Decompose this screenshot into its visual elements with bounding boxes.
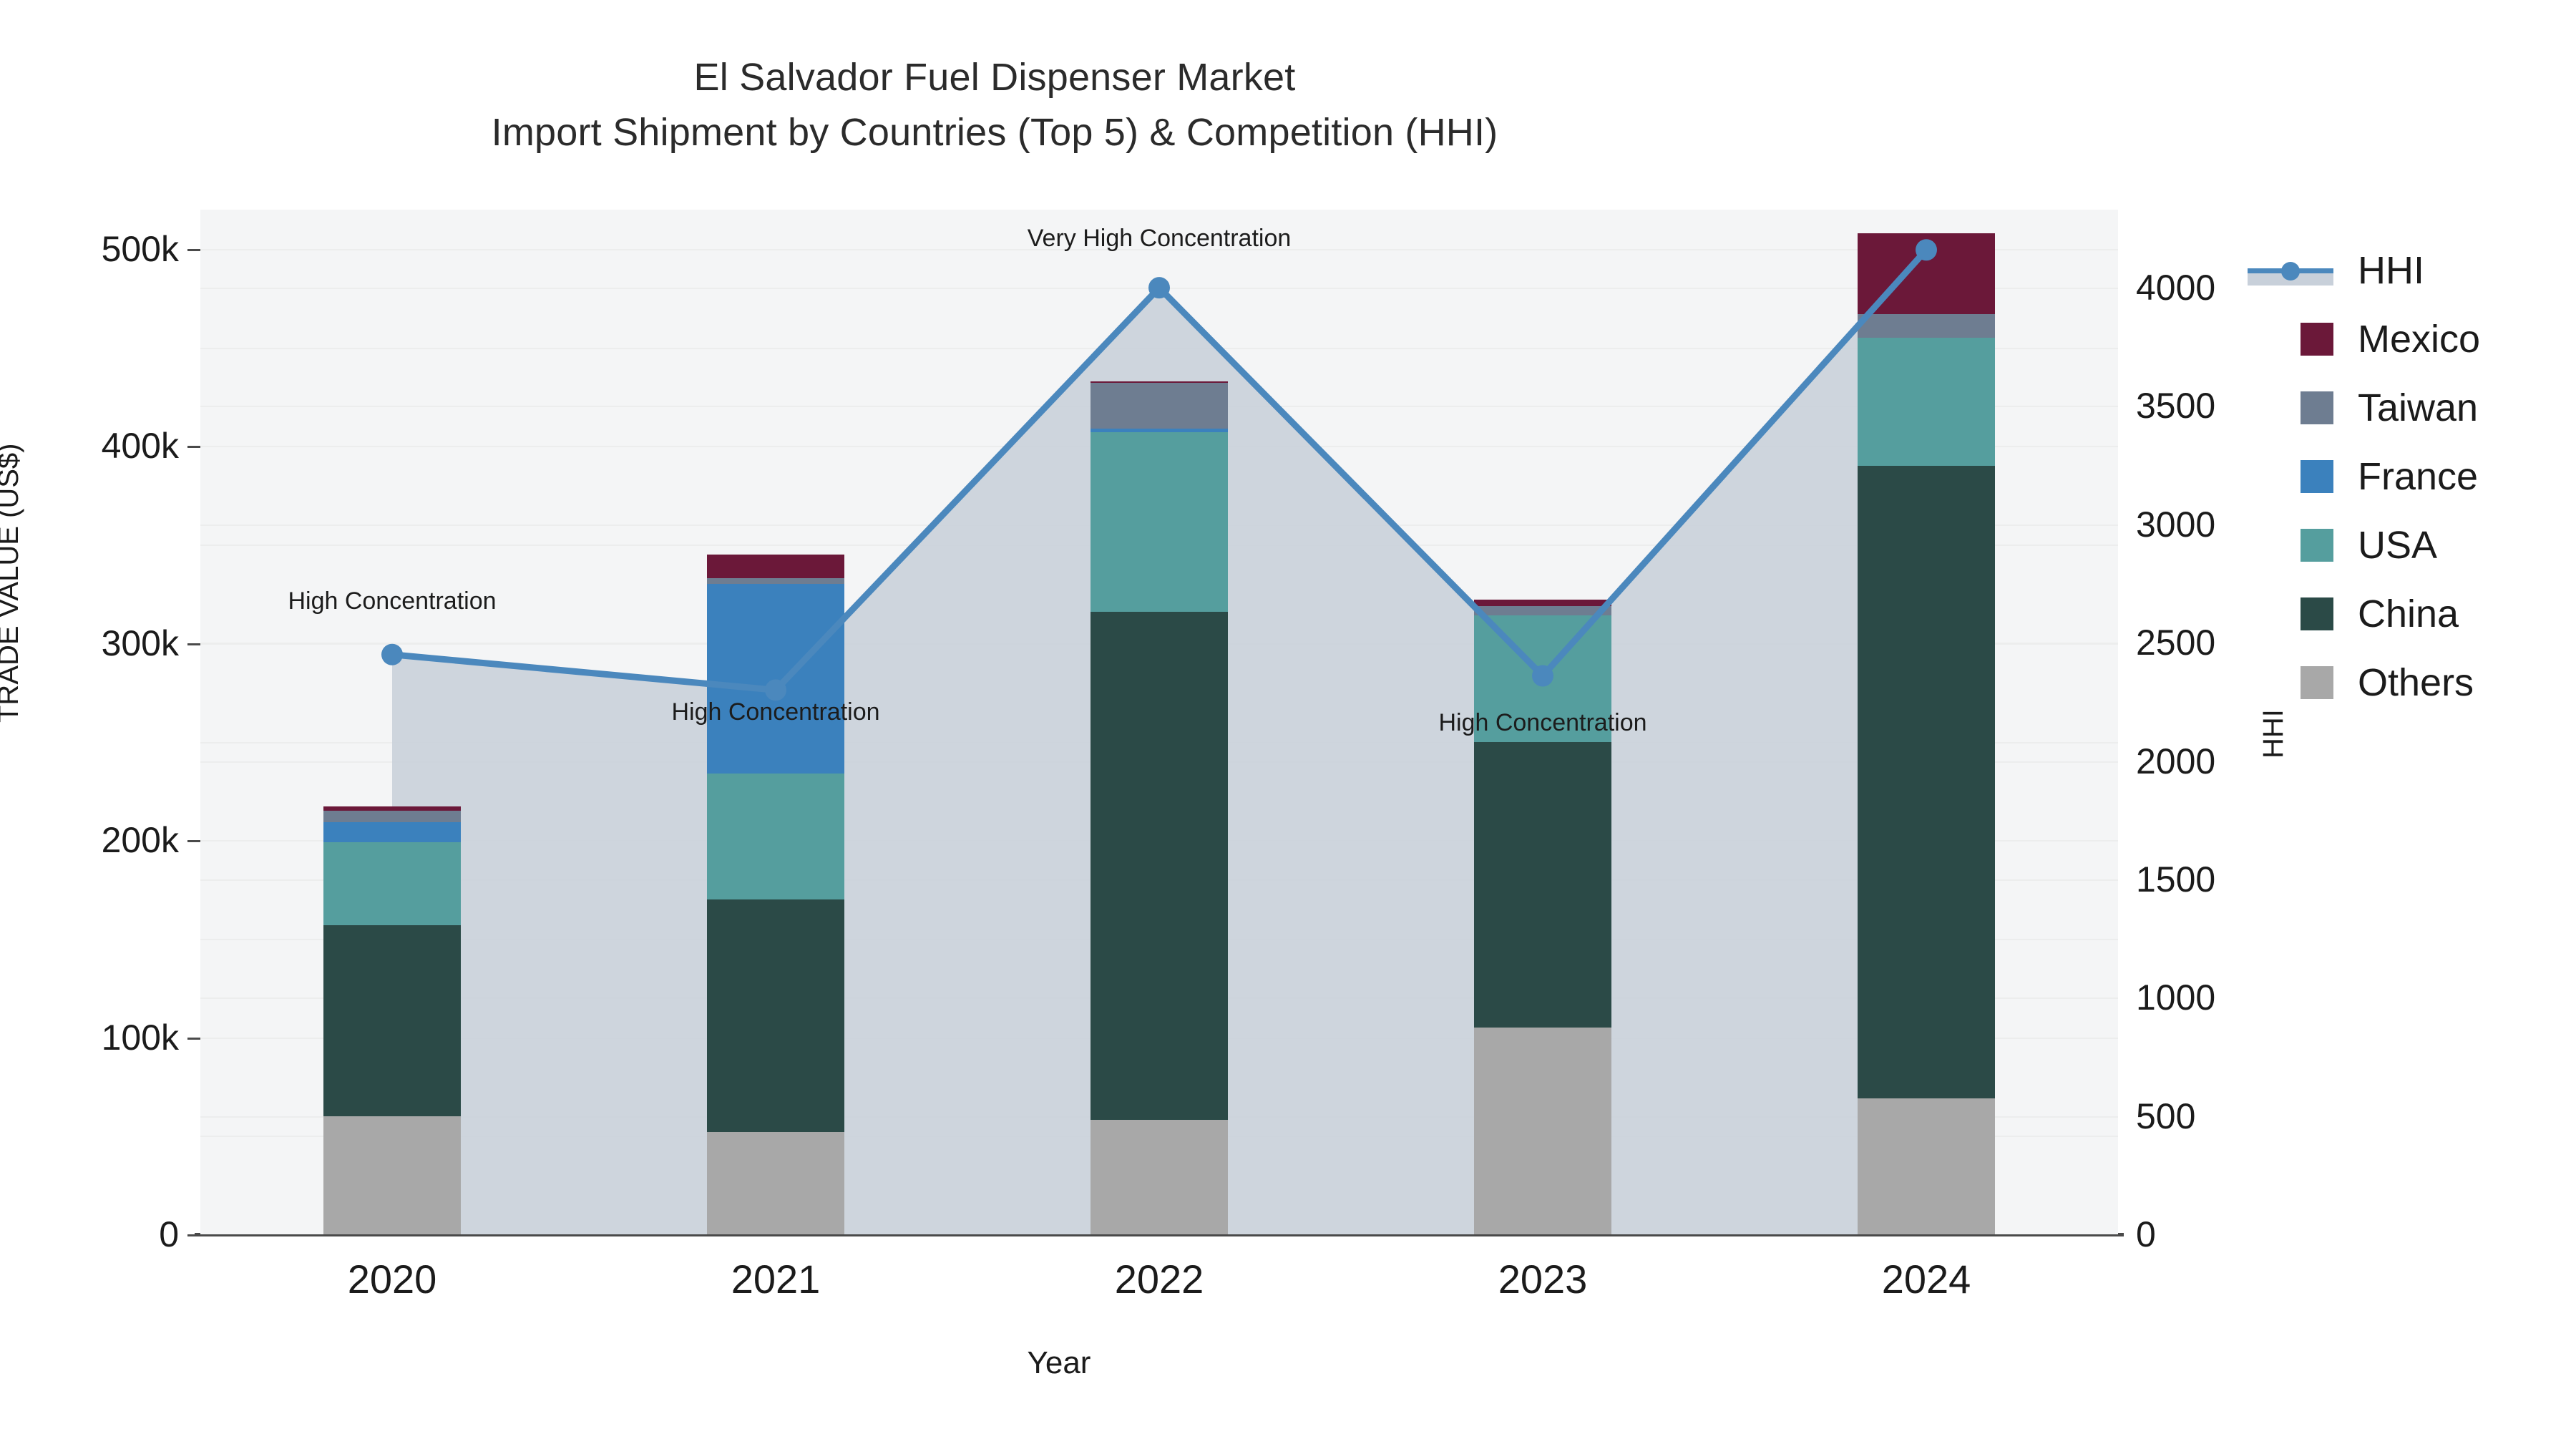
y-tick-left-mark — [187, 643, 200, 645]
y-tick-left-label: 100k — [14, 1017, 179, 1058]
legend-label: Others — [2358, 660, 2474, 705]
plot-area: High ConcentrationHigh ConcentrationVery… — [200, 210, 2118, 1234]
chart-figure: El Salvador Fuel Dispenser Market Import… — [0, 0, 2576, 1449]
legend-item-france[interactable]: France — [2301, 442, 2480, 511]
legend-item-taiwan[interactable]: Taiwan — [2301, 374, 2480, 442]
color-swatch-icon — [2301, 323, 2333, 356]
y-tick-left-label: 300k — [14, 623, 179, 664]
legend-item-mexico[interactable]: Mexico — [2301, 305, 2480, 374]
y-tick-left-mark — [187, 840, 200, 842]
x-tick-label-2022[interactable]: 2022 — [1115, 1256, 1204, 1302]
y-tick-right-label: 3500 — [2136, 385, 2215, 426]
hhi-annotation-2022: Very High Concentration — [1028, 225, 1292, 253]
x-tick-label-2021[interactable]: 2021 — [731, 1256, 821, 1302]
legend-label: HHI — [2358, 248, 2424, 293]
x-tick-label-2020[interactable]: 2020 — [348, 1256, 437, 1302]
legend-item-usa[interactable]: USA — [2301, 511, 2480, 580]
chart-title-line-1: El Salvador Fuel Dispenser Market — [0, 50, 1989, 105]
legend-label: Mexico — [2358, 317, 2480, 361]
color-swatch-icon — [2301, 597, 2333, 630]
hhi-annotation-2021: High Concentration — [671, 698, 879, 726]
y-tick-right-label: 2000 — [2136, 741, 2215, 782]
y-axis-right-label: HHI — [2258, 709, 2290, 758]
y-tick-right-label: 500 — [2136, 1096, 2195, 1137]
y-tick-right-label: 3000 — [2136, 504, 2215, 545]
legend-label: France — [2358, 454, 2478, 499]
legend-label: Taiwan — [2358, 386, 2478, 430]
y-axis-left-label: TRADE VALUE (US$) — [0, 444, 25, 723]
legend-item-hhi[interactable]: HHI — [2301, 236, 2480, 305]
y-tick-right-label: 2500 — [2136, 622, 2215, 663]
x-axis-label: Year — [0, 1345, 2118, 1381]
y-tick-left-mark — [187, 446, 200, 448]
y-tick-right-label: 1500 — [2136, 859, 2215, 900]
x-tick-label-2024[interactable]: 2024 — [1882, 1256, 1971, 1302]
color-swatch-icon — [2301, 460, 2333, 493]
y-tick-left-label: 200k — [14, 819, 179, 861]
hhi-annotation-2020: High Concentration — [288, 587, 496, 615]
y-tick-right-label: 0 — [2136, 1214, 2156, 1255]
hhi-line-series — [200, 210, 2118, 1234]
line-marker-icon — [2248, 254, 2333, 287]
y-tick-left-mark — [187, 249, 200, 251]
color-swatch-icon — [2301, 529, 2333, 562]
chart-title-line-2: Import Shipment by Countries (Top 5) & C… — [0, 105, 1989, 160]
chart-legend: HHIMexicoTaiwanFranceUSAChinaOthers — [2301, 236, 2480, 717]
legend-item-china[interactable]: China — [2301, 580, 2480, 648]
legend-label: USA — [2358, 523, 2437, 567]
y-tick-right-label: 1000 — [2136, 977, 2215, 1018]
legend-label: China — [2358, 592, 2459, 636]
y-tick-left-label: 400k — [14, 425, 179, 467]
y-tick-right-label: 4000 — [2136, 267, 2215, 308]
color-swatch-icon — [2301, 666, 2333, 699]
plot-inner: High ConcentrationHigh ConcentrationVery… — [200, 210, 2118, 1234]
y-tick-left-label: 500k — [14, 228, 179, 270]
legend-item-others[interactable]: Others — [2301, 648, 2480, 717]
y-tick-left-label: 0 — [14, 1214, 179, 1255]
y-tick-left-mark — [187, 1038, 200, 1040]
chart-title: El Salvador Fuel Dispenser Market Import… — [0, 50, 1989, 160]
x-tick-label-2023[interactable]: 2023 — [1498, 1256, 1588, 1302]
hhi-annotation-2023: High Concentration — [1438, 709, 1646, 737]
legend-line-dot — [2281, 262, 2300, 280]
color-swatch-icon — [2301, 391, 2333, 424]
